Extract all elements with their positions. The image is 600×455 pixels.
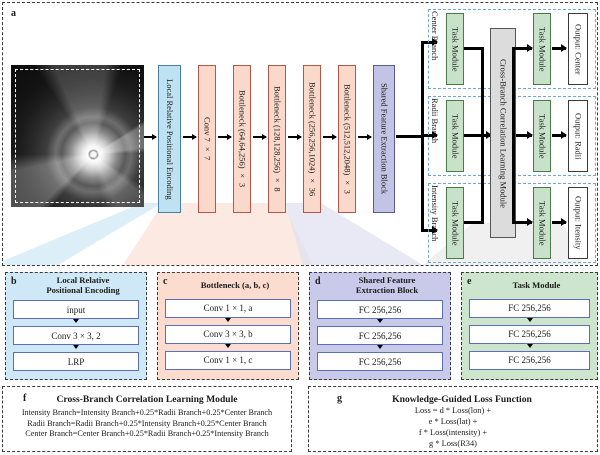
stage-local-relative-positional-encoding: Local Relative Positional Encoding bbox=[158, 65, 181, 213]
panel-a-architecture: a Local Relative Positional Encoding Con… bbox=[2, 2, 598, 266]
stage-bottleneck-64-64-256: Bottleneck (64,64,256) × 3 bbox=[233, 65, 251, 213]
stage-bottleneck-128-128-256: Bottleneck (128,128,256) × 8 bbox=[268, 65, 286, 213]
panel-e-task-module: e Task Module FC 256,256 FC 256,256 FC 2… bbox=[461, 272, 598, 380]
panel-b-box-2: Conv 3 × 3, 2 bbox=[13, 326, 139, 345]
output-center: Output: Center bbox=[568, 13, 588, 85]
arrow-cross-to-intensity-tm2 bbox=[512, 221, 532, 224]
panel-d-shared-feature-extraction-block: d Shared Feature Extraction Block FC 256… bbox=[309, 272, 451, 380]
stage-shared-feature-extraction-block: Shared Feature Extraction Block bbox=[373, 65, 395, 213]
arrow-bn3-to-bn4 bbox=[323, 136, 336, 138]
stage-label: Bottleneck (128,128,256) × 8 bbox=[273, 86, 282, 192]
task-module-label: Task Module bbox=[538, 201, 547, 246]
arrow-intensity-tm2-to-output bbox=[552, 221, 566, 224]
output-label: Output: Radii bbox=[574, 113, 583, 160]
arrow-conv-to-bn1 bbox=[218, 136, 231, 138]
panel-f-title: Cross-Branch Correlation Learning Module bbox=[3, 387, 291, 405]
stage-label: Shared Feature Extraction Block bbox=[380, 83, 389, 194]
arrow-cross-to-center-tm2 bbox=[512, 47, 532, 50]
panel-g-title: Knowledge-Guided Loss Function bbox=[309, 387, 597, 405]
panel-d-title-line2: Extraction Block bbox=[324, 286, 450, 296]
stage-label: Conv 7 × 7 bbox=[203, 117, 212, 160]
panel-f-line-1: Intensity Branch=Intensity Branch+0.25*R… bbox=[3, 408, 291, 419]
center-task-module-2: Task Module bbox=[533, 13, 551, 85]
panel-letter-b: b bbox=[11, 276, 17, 287]
panel-b-title: Local Relative Positional Encoding bbox=[6, 273, 146, 295]
panel-e-arrow-2 bbox=[462, 344, 597, 349]
panel-letter-a: a bbox=[11, 8, 16, 19]
branch-label-center: Center Branch bbox=[430, 11, 440, 60]
output-radii: Output: Radii bbox=[568, 100, 588, 172]
radii-task-module-1: Task Module bbox=[446, 100, 464, 172]
stage-label: Local Relative Positional Encoding bbox=[165, 79, 174, 200]
panel-d-title: Shared Feature Extraction Block bbox=[310, 273, 450, 295]
center-task-module-1: Task Module bbox=[446, 13, 464, 85]
panel-d-box-2: FC 256,256 bbox=[317, 326, 443, 345]
task-module-label: Task Module bbox=[538, 114, 547, 159]
arrow-center-tm2-to-output bbox=[552, 47, 566, 50]
panel-g-line-2: e * Loss(lat) + bbox=[309, 417, 597, 428]
panel-c-box-1: Conv 1 × 1, a bbox=[165, 299, 291, 318]
output-label: Output: Itensity bbox=[574, 196, 583, 250]
panel-c-bottleneck: c Bottleneck (a, b, c) Conv 1 × 1, a Con… bbox=[157, 272, 299, 380]
task-module-label: Task Module bbox=[451, 27, 460, 72]
panel-e-box-1: FC 256,256 bbox=[469, 299, 590, 318]
panel-b-arrow-2 bbox=[6, 345, 146, 350]
panel-b-arrow-1 bbox=[6, 319, 146, 324]
output-label: Output: Center bbox=[574, 24, 583, 75]
stage-label: Bottleneck (512,512,2048) × 3 bbox=[343, 84, 352, 194]
panel-g-knowledge-guided-loss-function: g Knowledge-Guided Loss Function Loss = … bbox=[308, 386, 598, 452]
cross-module-label: Cross-Branch Correlation Learning Module bbox=[499, 59, 508, 208]
stage-bottleneck-256-256-1024: Bottleneck (256,256,1024) × 36 bbox=[303, 65, 321, 213]
branch-label-radii: Radii Branch bbox=[430, 98, 440, 143]
panel-d-arrow-2 bbox=[310, 345, 450, 350]
satellite-image bbox=[11, 65, 144, 207]
arrow-bn4-to-sfeb bbox=[358, 136, 371, 138]
panel-g-line-4: g * Loss(R34) bbox=[309, 439, 597, 450]
panel-d-arrow-1 bbox=[310, 319, 450, 324]
task-module-label: Task Module bbox=[451, 114, 460, 159]
stage-conv-7x7: Conv 7 × 7 bbox=[198, 65, 216, 213]
intensity-task-module-1: Task Module bbox=[446, 187, 464, 259]
panel-c-arrow-2 bbox=[158, 344, 298, 349]
task-module-label: Task Module bbox=[451, 201, 460, 246]
arrow-image-to-lrp bbox=[144, 136, 156, 138]
stage-label: Bottleneck (256,256,1024) × 36 bbox=[308, 82, 317, 196]
panel-e-title: Task Module bbox=[462, 273, 597, 291]
stage-bottleneck-512-512-2048: Bottleneck (512,512,2048) × 3 bbox=[338, 65, 356, 213]
panel-g-line-1: Loss = d * Loss(lon) + bbox=[309, 406, 597, 417]
panel-c-box-2: Conv 3 × 3, b bbox=[165, 325, 291, 344]
arrow-cross-to-radii-tm2 bbox=[516, 134, 532, 137]
panel-b-local-relative-positional-encoding: b Local Relative Positional Encoding inp… bbox=[5, 272, 147, 380]
panel-letter-e: e bbox=[467, 276, 471, 287]
panel-d-box-1: FC 256,256 bbox=[317, 300, 443, 319]
arrow-bn1-to-bn2 bbox=[253, 136, 266, 138]
panel-letter-g: g bbox=[337, 393, 342, 404]
output-intensity: Output: Itensity bbox=[568, 187, 588, 259]
panel-letter-f: f bbox=[23, 393, 26, 404]
panel-letter-c: c bbox=[163, 276, 167, 287]
arrow-radii-tm2-to-output bbox=[552, 134, 566, 137]
panel-c-arrow-1 bbox=[158, 318, 298, 323]
branch-label-intensity: Intensity Branch bbox=[430, 185, 440, 241]
panel-e-box-3: FC 256,256 bbox=[469, 351, 590, 370]
task-module-label: Task Module bbox=[538, 27, 547, 72]
panel-b-box-1: input bbox=[13, 300, 139, 319]
panel-b-box-3: LRP bbox=[13, 352, 139, 371]
panel-f-line-3: Center Branch=Center Branch+0.25*Radii B… bbox=[3, 429, 291, 440]
radii-task-module-2: Task Module bbox=[533, 100, 551, 172]
panel-b-title-line2: Positional Encoding bbox=[20, 286, 146, 296]
panel-f-cross-branch-correlation-learning-module: f Cross-Branch Correlation Learning Modu… bbox=[2, 386, 292, 452]
panel-c-box-3: Conv 1 × 1, c bbox=[165, 351, 291, 370]
panel-letter-d: d bbox=[315, 276, 321, 287]
arrow-lrp-to-conv bbox=[183, 136, 196, 138]
arrow-bn2-to-bn3 bbox=[288, 136, 301, 138]
bus-horizontal bbox=[396, 135, 424, 138]
panel-g-line-3: f * Loss(intensity) + bbox=[309, 428, 597, 439]
intensity-task-module-2: Task Module bbox=[533, 187, 551, 259]
image-crop-dashed-border bbox=[15, 69, 140, 203]
panel-f-line-2: Radii Branch=Radii Branch+0.25*Intensity… bbox=[3, 419, 291, 430]
panel-d-box-3: FC 256,256 bbox=[317, 352, 443, 371]
panel-c-title: Bottleneck (a, b, c) bbox=[158, 273, 298, 291]
stage-label: Bottleneck (64,64,256) × 3 bbox=[238, 90, 247, 187]
panel-e-arrow-1 bbox=[462, 318, 597, 323]
panel-e-box-2: FC 256,256 bbox=[469, 325, 590, 344]
wire-distributor-vertical bbox=[512, 47, 515, 222]
